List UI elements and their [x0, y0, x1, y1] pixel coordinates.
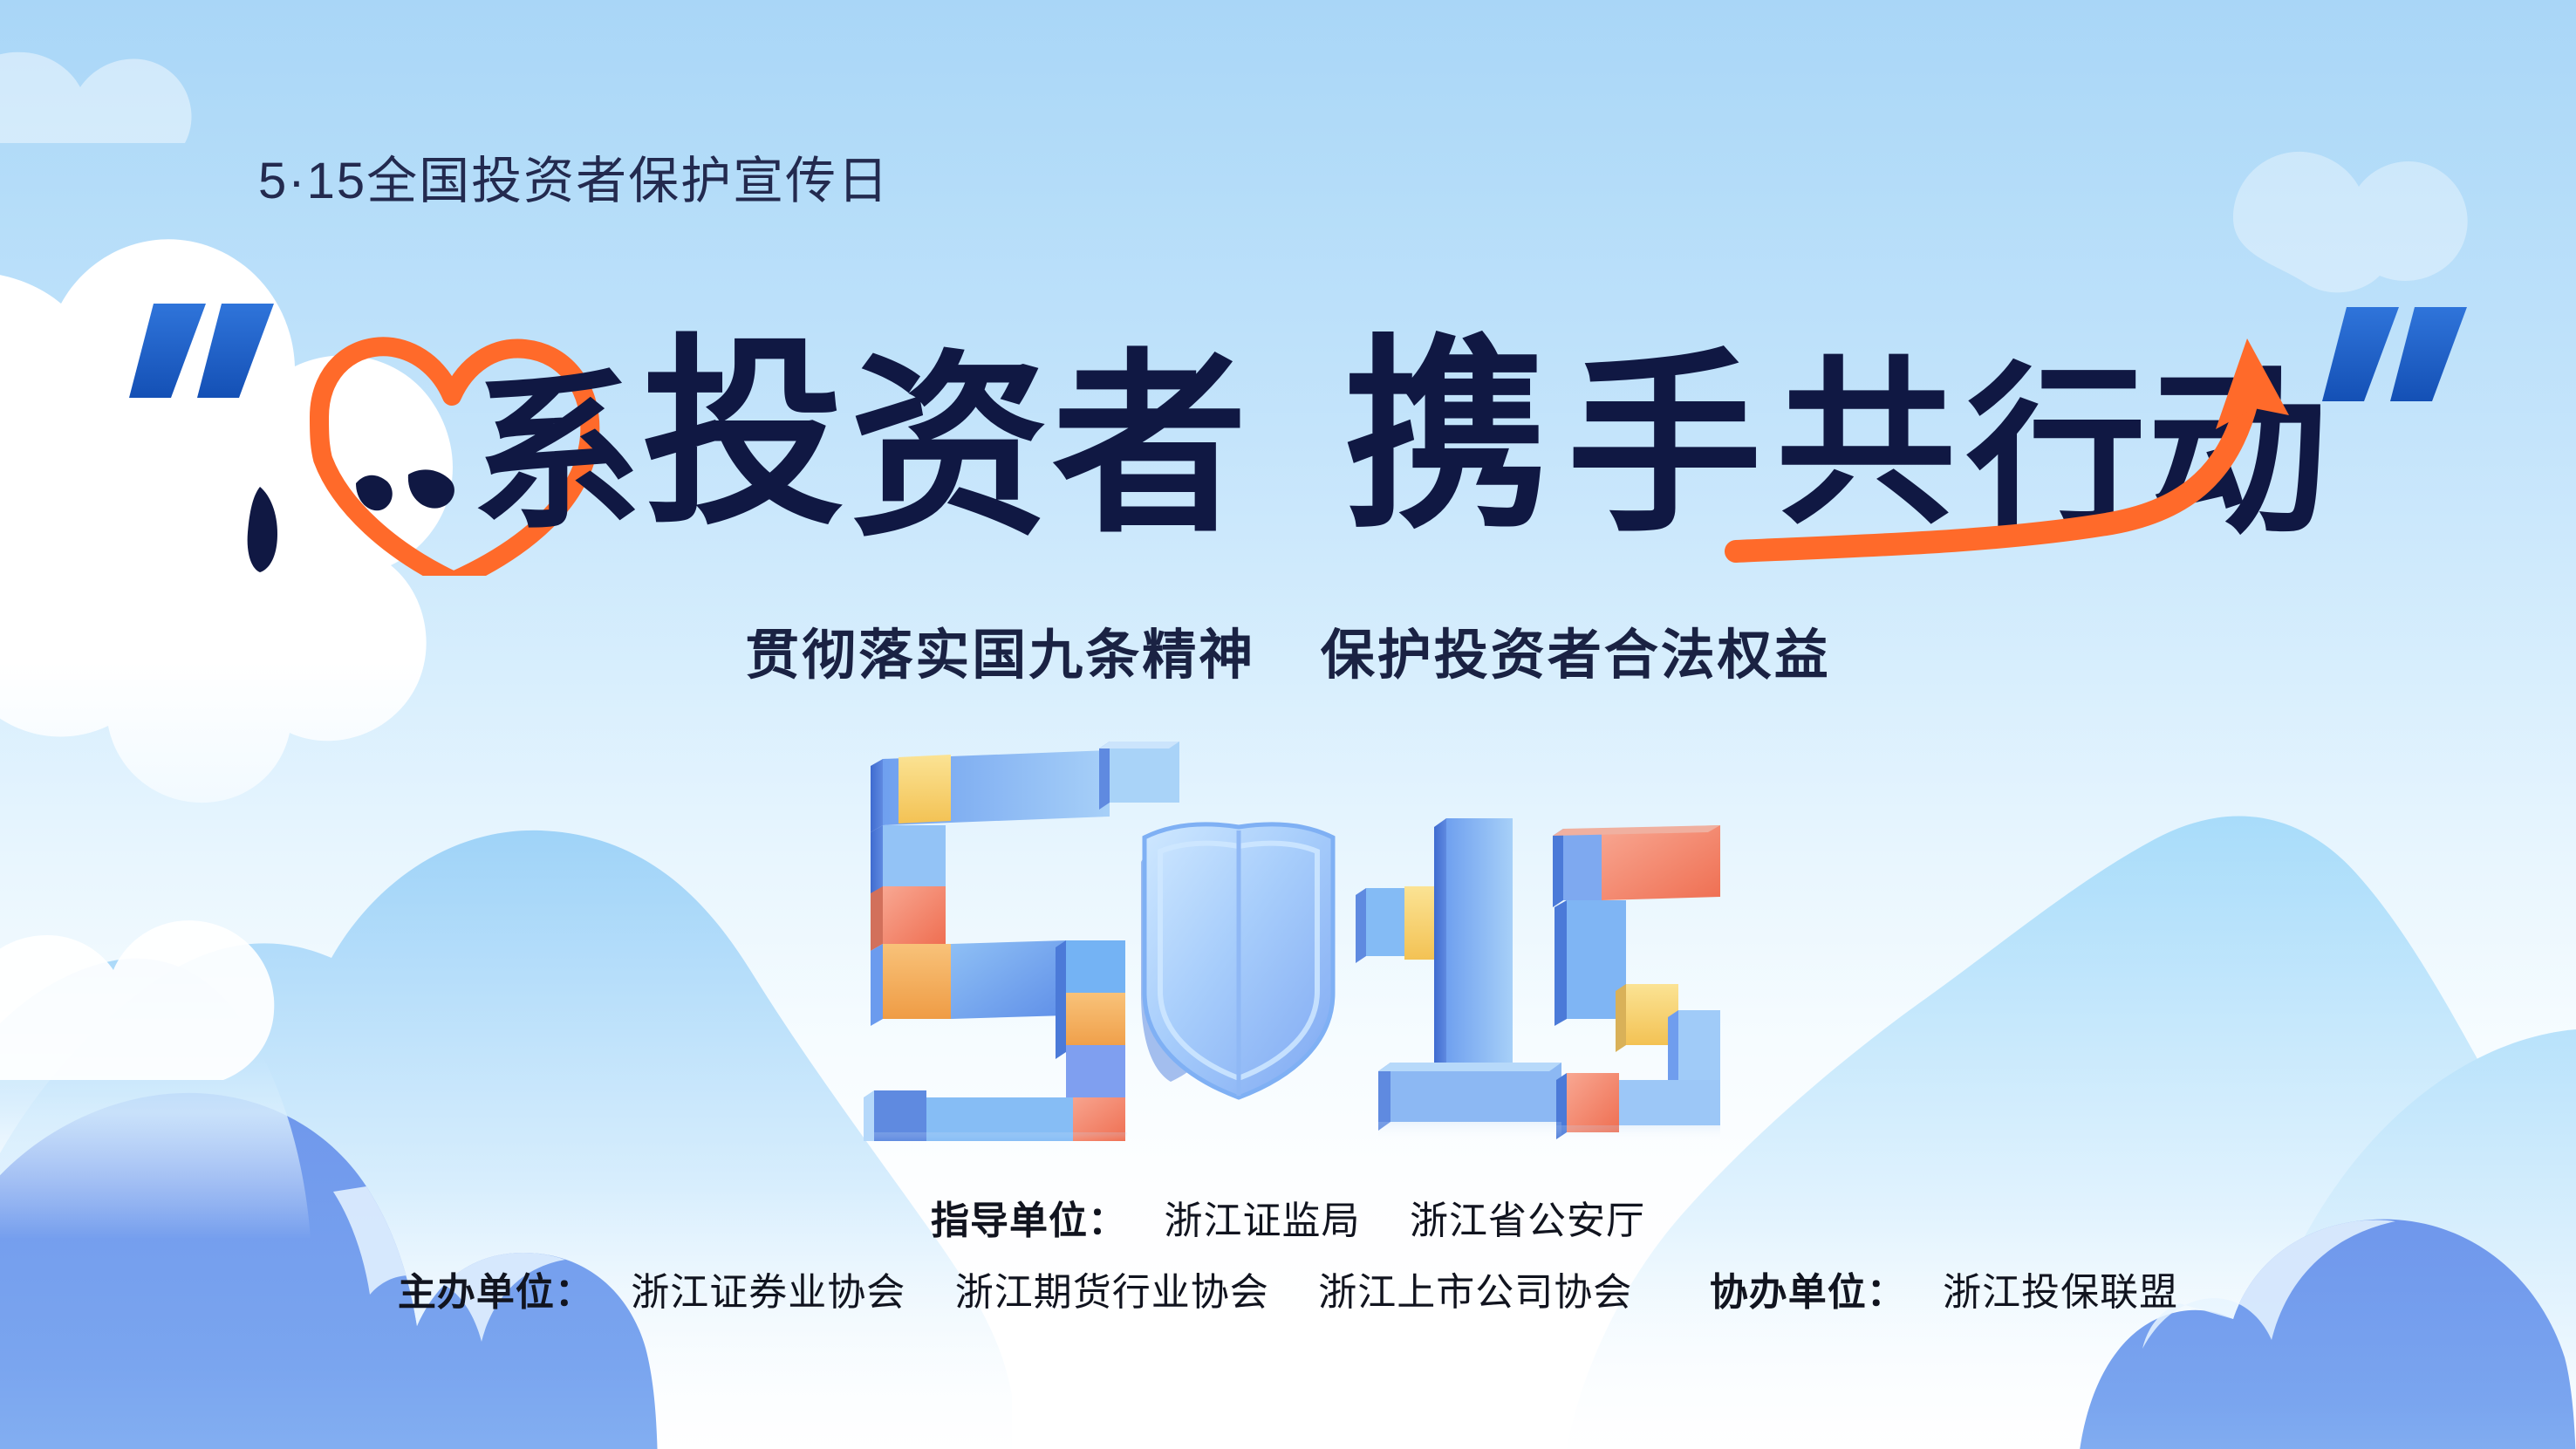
- close-quote-mark: [2322, 307, 2467, 401]
- headline-char-shou: 手: [1567, 330, 1762, 559]
- credits-block: 指导单位： 浙江证监局 浙江省公安厅 主办单位： 浙江证券业协会 浙江期货行业协…: [0, 1202, 2576, 1312]
- headline-char-zi: 资: [850, 330, 1049, 564]
- headline-char-tou: 投: [642, 314, 844, 552]
- main-headline: 系 投 资 者 携 手 共 行 动: [0, 288, 2576, 576]
- poster-canvas: 5·15全国投资者保护宣传日: [0, 0, 2576, 1449]
- cloud-topleft-faint: [0, 52, 192, 143]
- headline-char-zhe: 者: [1052, 330, 1247, 559]
- logo-515: [848, 731, 1729, 1141]
- open-quote-mark: [129, 304, 274, 398]
- cloud-right-faint: [2233, 152, 2468, 292]
- host-org-1: 浙江证券业协会: [631, 1271, 905, 1314]
- logo-digit-5-first: [864, 742, 1179, 1141]
- host-org-3: 浙江上市公司协会: [1318, 1271, 1632, 1314]
- mountain-leftedge-light: [0, 959, 311, 1239]
- guidance-label: 指导单位：: [931, 1200, 1127, 1242]
- logo-digit-1: [1356, 818, 1561, 1131]
- subtitle-right-phrase: 保护投资者合法权益: [1321, 625, 1831, 686]
- headline-char-xie: 携: [1343, 314, 1549, 557]
- coorganizer-org-1: 浙江投保联盟: [1943, 1271, 2178, 1314]
- headline-char-gong: 共: [1776, 338, 1956, 549]
- guidance-org-2: 浙江省公安厅: [1410, 1200, 1645, 1242]
- host-label: 主办单位：: [398, 1271, 594, 1314]
- credit-line-hosts: 主办单位： 浙江证券业协会 浙江期货行业协会 浙江上市公司协会 协办单位： 浙江…: [0, 1274, 2576, 1312]
- page-eyebrow-title: 5·15全国投资者保护宣传日: [258, 140, 890, 213]
- coorganizer-label: 协办单位：: [1710, 1271, 1906, 1314]
- page-subtitle: 贯彻落实国九条精神 保护投资者合法权益: [0, 611, 2576, 689]
- logo-digit-5-last: [1553, 825, 1720, 1139]
- credit-line-guidance: 指导单位： 浙江证监局 浙江省公安厅: [0, 1202, 2576, 1241]
- subtitle-left-phrase: 贯彻落实国九条精神: [745, 625, 1255, 686]
- guidance-org-1: 浙江证监局: [1165, 1200, 1361, 1242]
- headline-char-xi: 系: [471, 353, 642, 554]
- cloud-left-small: [0, 920, 274, 1080]
- host-org-2: 浙江期货行业协会: [955, 1271, 1269, 1314]
- shield-icon: [1141, 824, 1333, 1097]
